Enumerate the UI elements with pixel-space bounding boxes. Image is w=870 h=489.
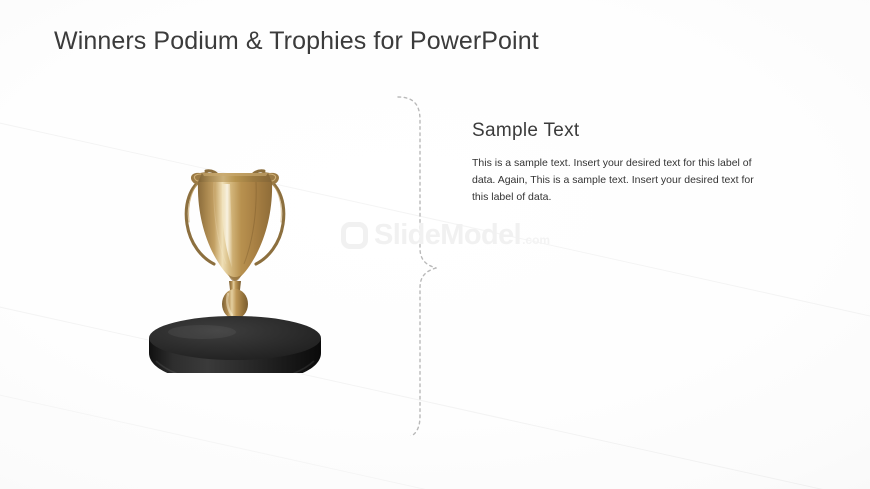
diagonal-hairline (0, 356, 870, 489)
diagonal-hairline (0, 268, 870, 489)
page-title: Winners Podium & Trophies for PowerPoint (54, 27, 539, 56)
slidemodel-logo-icon (341, 222, 368, 249)
content-text-block: Sample Text This is a sample text. Inser… (472, 120, 762, 206)
sample-text-heading: Sample Text (472, 120, 762, 142)
sample-text-body: This is a sample text. Insert your desir… (472, 155, 762, 206)
watermark: SlideModel .com (341, 221, 550, 250)
slide-canvas: Winners Podium & Trophies for PowerPoint (0, 0, 870, 489)
watermark-tld: .com (522, 233, 550, 250)
dotted-curly-brace-icon (390, 88, 446, 436)
trophy-illustration (140, 148, 330, 373)
watermark-word: SlideModel (374, 221, 521, 250)
